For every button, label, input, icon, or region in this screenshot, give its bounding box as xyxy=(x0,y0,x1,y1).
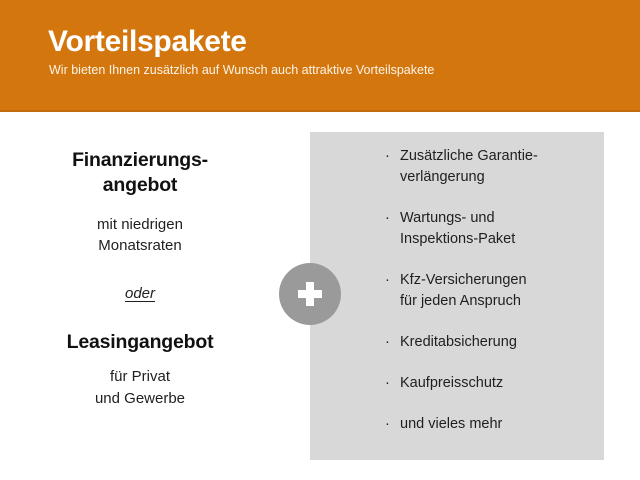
list-item-line2: verlängerung xyxy=(400,169,485,185)
list-item: · und vieles mehr xyxy=(385,414,595,435)
plus-icon xyxy=(279,263,341,325)
bullet-icon: · xyxy=(385,373,390,394)
bullet-icon: · xyxy=(385,146,390,167)
list-item: · Kfz-Versicherungen für jeden Anspruch xyxy=(385,270,595,312)
list-item-line2: für jeden Anspruch xyxy=(400,293,521,309)
offer-separator: oder xyxy=(14,285,266,302)
financing-offer-heading-line1: Finanzierungs- xyxy=(14,148,266,173)
plus-badge xyxy=(279,263,341,325)
leasing-offer-detail-line1: für Privat xyxy=(14,366,266,387)
financing-offer-detail: mit niedrigen Monatsraten xyxy=(14,214,266,257)
leasing-offer-detail: für Privat und Gewerbe xyxy=(14,366,266,409)
list-item-line1: und vieles mehr xyxy=(400,416,502,432)
financing-offer-heading-line2: angebot xyxy=(14,173,266,198)
financing-offer-detail-line2: Monatsraten xyxy=(14,235,266,256)
list-item: · Kreditabsicherung xyxy=(385,332,595,353)
list-item-line1: Zusätzliche Garantie- xyxy=(400,148,538,164)
benefits-list: · Zusätzliche Garantie- verlängerung · W… xyxy=(385,146,595,435)
leasing-offer-heading-line1: Leasingangebot xyxy=(14,330,266,355)
list-item-line1: Kaufpreisschutz xyxy=(400,375,503,391)
financing-offer-detail-line1: mit niedrigen xyxy=(14,214,266,235)
list-item: · Zusätzliche Garantie- verlängerung xyxy=(385,146,595,188)
bullet-icon: · xyxy=(385,332,390,353)
header-banner: Vorteilspakete Wir bieten Ihnen zusätzli… xyxy=(0,0,640,112)
bullet-icon: · xyxy=(385,208,390,229)
list-item: · Kaufpreisschutz xyxy=(385,373,595,394)
list-item-line1: Kreditabsicherung xyxy=(400,334,517,350)
page-title: Vorteilspakete xyxy=(48,27,247,57)
bullet-icon: · xyxy=(385,414,390,435)
benefits-panel: · Zusätzliche Garantie- verlängerung · W… xyxy=(310,132,604,460)
offers-column: Finanzierungs- angebot mit niedrigen Mon… xyxy=(14,148,266,409)
leasing-offer-heading: Leasingangebot xyxy=(14,330,266,355)
list-item-line2: Inspektions-Paket xyxy=(400,231,515,247)
leasing-offer-detail-line2: und Gewerbe xyxy=(14,388,266,409)
bullet-icon: · xyxy=(385,270,390,291)
financing-offer-heading: Finanzierungs- angebot xyxy=(14,148,266,198)
page-subtitle: Wir bieten Ihnen zusätzlich auf Wunsch a… xyxy=(49,64,434,77)
list-item: · Wartungs- und Inspektions-Paket xyxy=(385,208,595,250)
offer-separator-label: oder xyxy=(125,285,155,302)
list-item-line1: Kfz-Versicherungen xyxy=(400,272,527,288)
list-item-line1: Wartungs- und xyxy=(400,210,495,226)
